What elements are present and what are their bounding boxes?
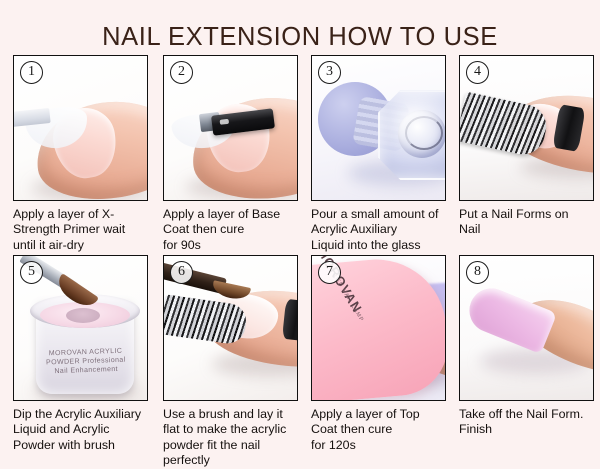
steps-row-2: MOROVAN ACRYLIC POWDER Professional Nail…	[0, 255, 600, 455]
step-caption-1: Apply a layer of X- Strength Primer wait…	[13, 207, 155, 253]
step-panel-2[interactable]: 2 Apply a layer of Base Coat then cure f…	[163, 55, 298, 253]
step-image-frame-3: 3	[311, 55, 446, 201]
step-caption-2: Apply a layer of Base Coat then cure for…	[163, 207, 305, 253]
step-panel-8[interactable]: 8 Take off the Nail Form. Finish	[459, 255, 594, 438]
step-number-badge-4: 4	[466, 61, 489, 84]
step-number-badge-2: 2	[170, 61, 193, 84]
step-caption-4: Put a Nail Forms on Nail	[459, 207, 600, 238]
step-image-frame-6: 6	[163, 255, 298, 401]
step-panel-7[interactable]: MOROVAN UV LED NAIL LAMP 7 Apply a layer…	[311, 255, 446, 453]
powder-jar-label: MOROVAN ACRYLIC POWDER Professional Nail…	[39, 346, 132, 383]
step-number-badge-1: 1	[20, 61, 43, 84]
step-number-badge-8: 8	[466, 261, 489, 284]
step-panel-4[interactable]: 4 Put a Nail Forms on Nail	[459, 55, 594, 238]
step-image-frame-2: 2	[163, 55, 298, 201]
step-image-frame-4: 4	[459, 55, 594, 201]
step-caption-6: Use a brush and lay it flat to make the …	[163, 407, 305, 469]
step-panel-3[interactable]: 3 Pour a small amount of Acrylic Auxilia…	[311, 55, 446, 253]
step-panel-1[interactable]: 1 Apply a layer of X- Strength Primer wa…	[13, 55, 148, 253]
step-caption-8: Take off the Nail Form. Finish	[459, 407, 600, 438]
steps-row-1: 1 Apply a layer of X- Strength Primer wa…	[0, 55, 600, 255]
step-number-badge-5: 5	[20, 261, 43, 284]
step-number-badge-6: 6	[170, 261, 193, 284]
step-panel-5[interactable]: MOROVAN ACRYLIC POWDER Professional Nail…	[13, 255, 148, 453]
finished-extension-shape	[463, 282, 557, 354]
step-caption-7: Apply a layer of Top Coat then cure for …	[311, 407, 453, 453]
step-panel-6[interactable]: 6 Use a brush and lay it flat to make th…	[163, 255, 298, 469]
step-caption-5: Dip the Acrylic Auxiliary Liquid and Acr…	[13, 407, 155, 453]
powder-dip-shape	[66, 308, 100, 323]
page-title: NAIL EXTENSION HOW TO USE	[0, 17, 600, 49]
step-number-badge-3: 3	[318, 61, 341, 84]
step-image-frame-7: MOROVAN UV LED NAIL LAMP 7	[311, 255, 446, 401]
steps-grid: 1 Apply a layer of X- Strength Primer wa…	[0, 55, 600, 467]
step-number-badge-7: 7	[318, 261, 341, 284]
step-image-frame-1: 1	[13, 55, 148, 201]
step-image-frame-8: 8	[459, 255, 594, 401]
glass-dish-rim-shape	[405, 116, 443, 150]
step-caption-3: Pour a small amount of Acrylic Auxiliary…	[311, 207, 453, 253]
step-image-frame-5: MOROVAN ACRYLIC POWDER Professional Nail…	[13, 255, 148, 401]
